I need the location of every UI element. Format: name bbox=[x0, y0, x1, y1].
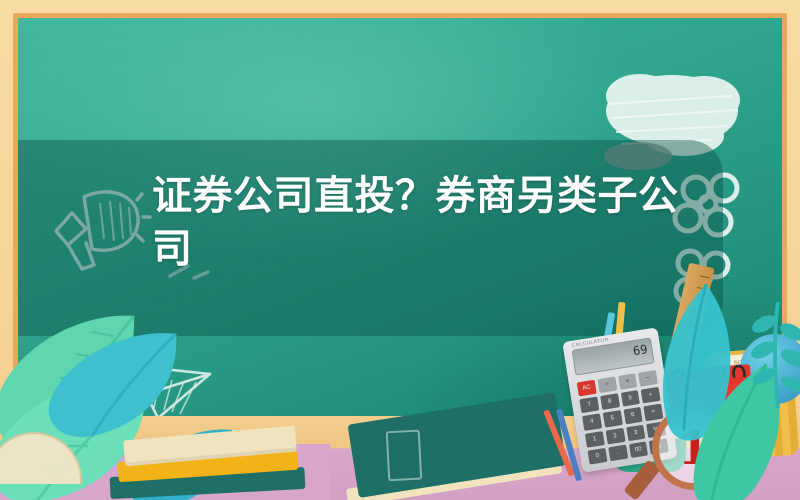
page-title: 证券公司直投？券商另类子公司 bbox=[152, 170, 682, 276]
paper-plane-icon bbox=[80, 348, 215, 428]
cover-image: 证券公司直投？券商另类子公司 bbox=[0, 0, 800, 500]
